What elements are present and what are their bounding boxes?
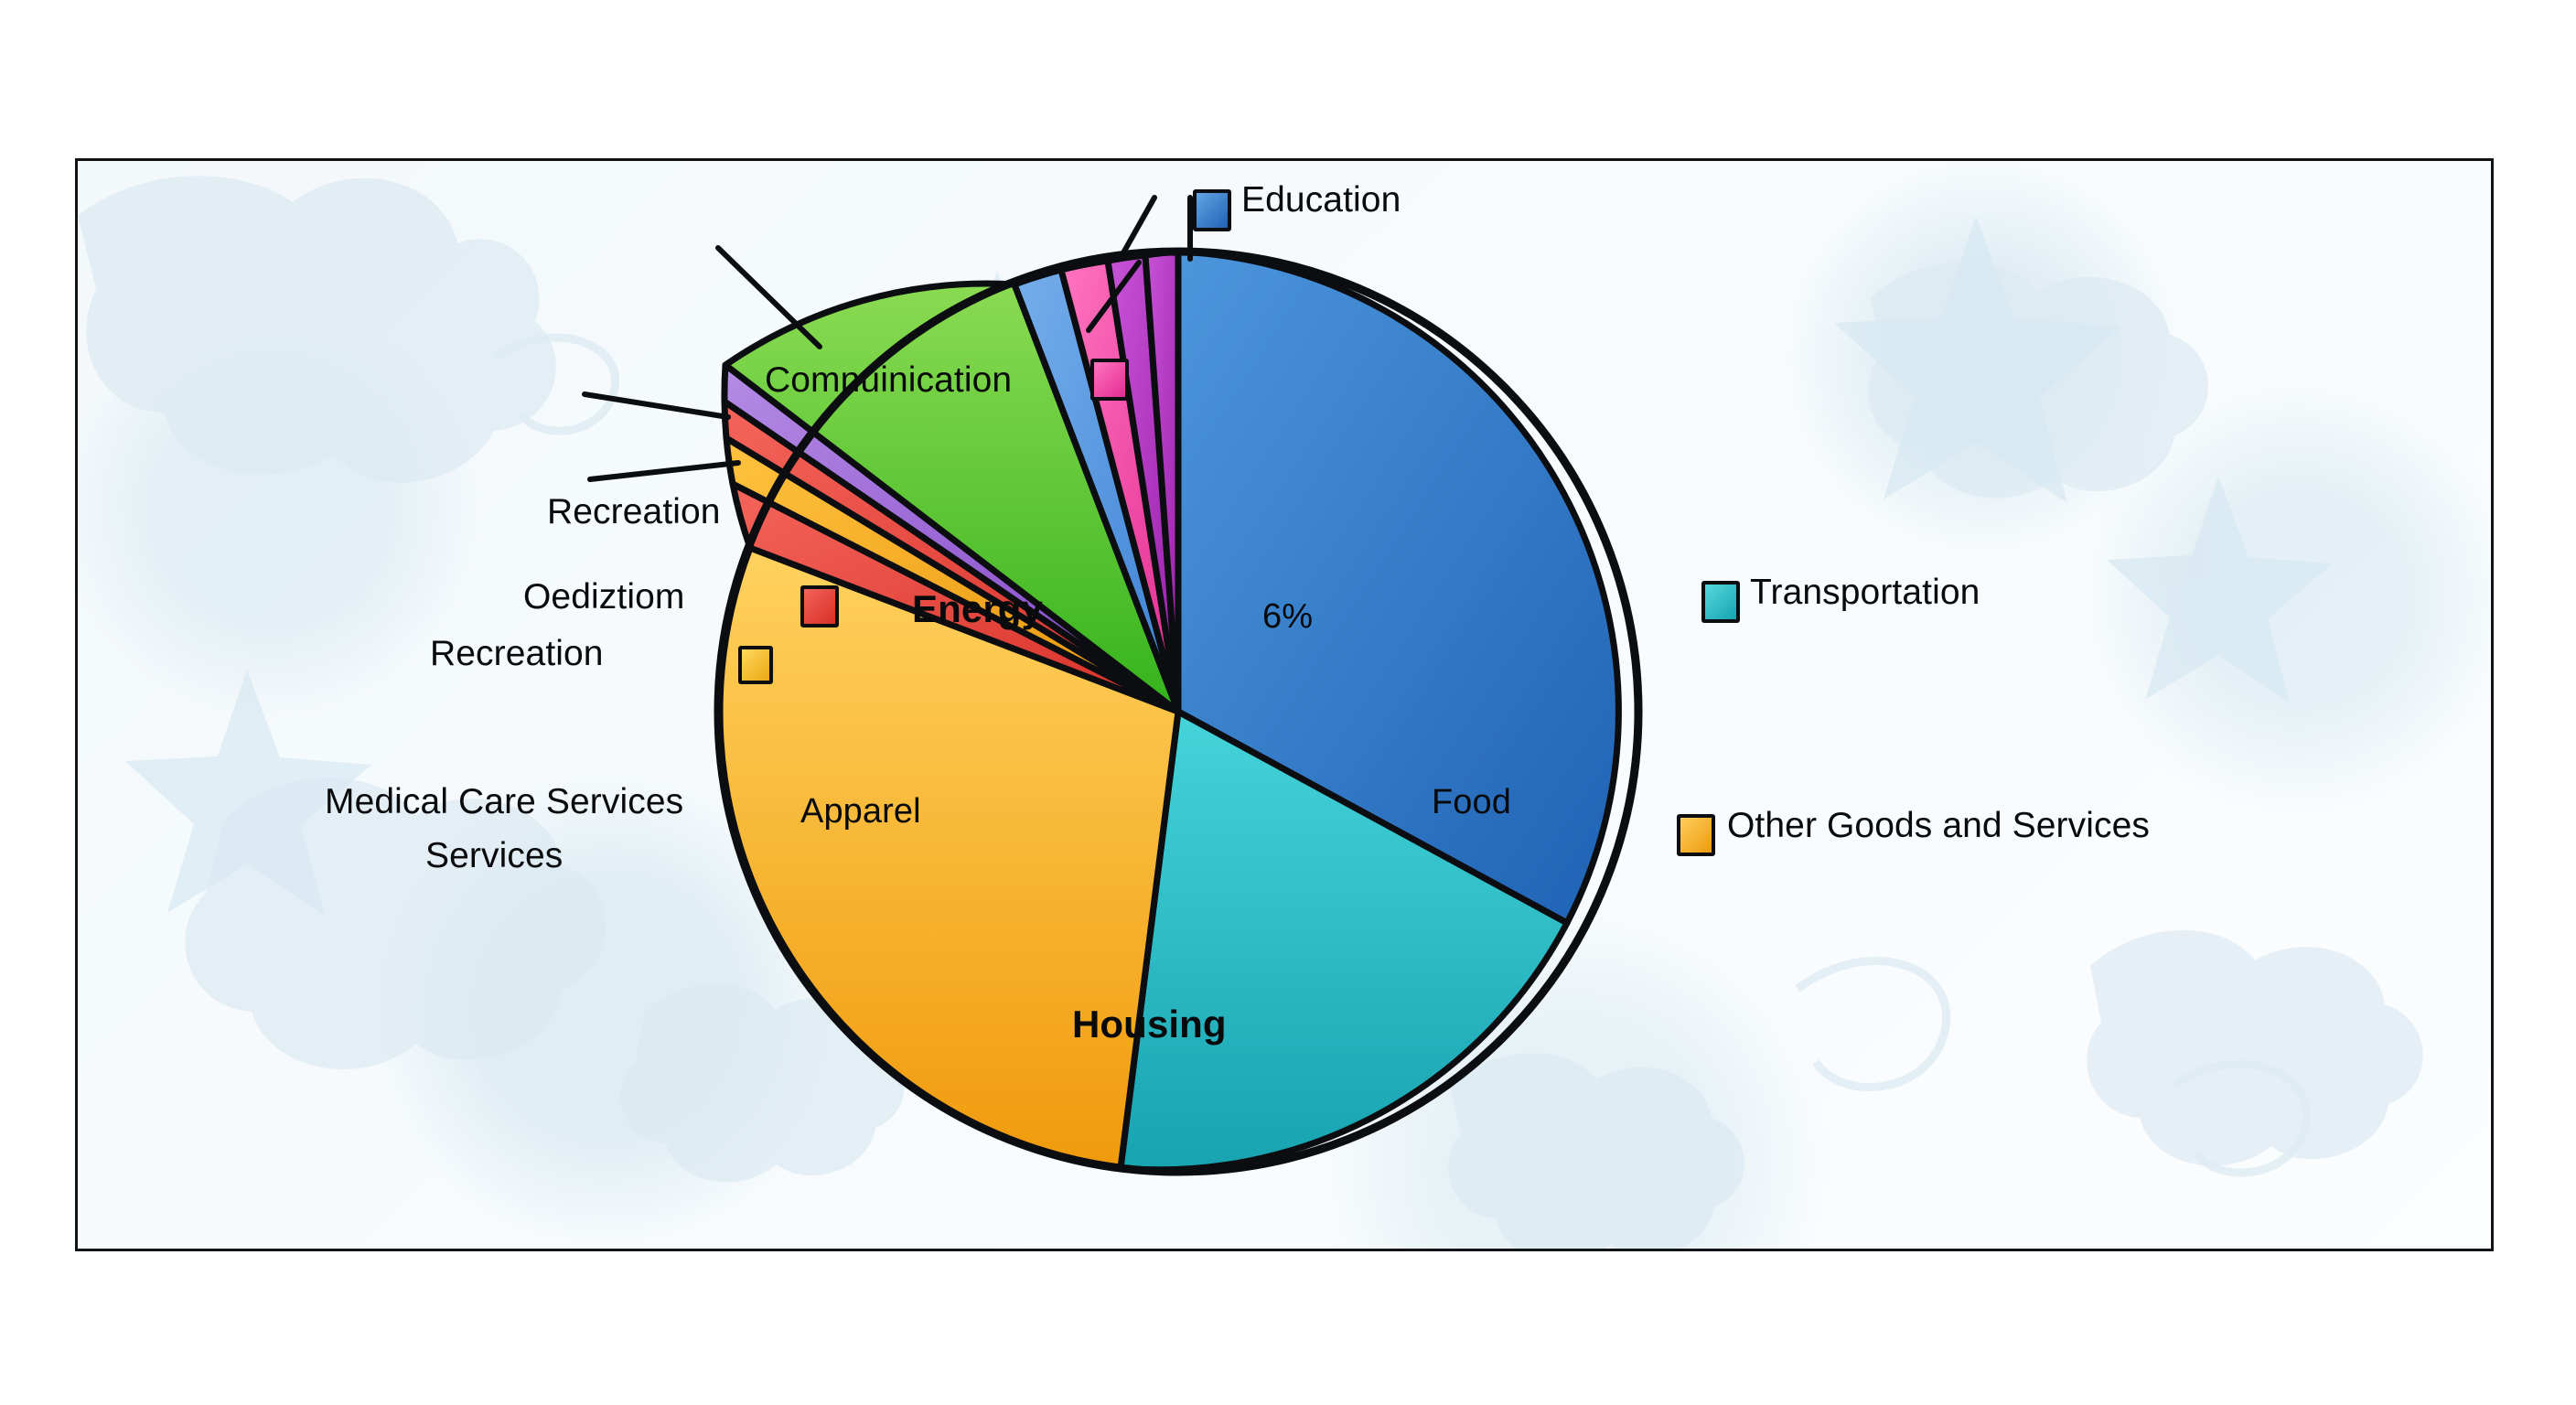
slice-label-food: Food (1432, 783, 1511, 822)
callout-label-medical-care-services-line1: Medical Care Services (325, 782, 683, 822)
legend-swatch-other-goods-services[interactable] (1677, 814, 1715, 856)
legend-swatch-education[interactable] (1193, 189, 1231, 231)
slice-label-energy: Energy (912, 587, 1043, 631)
chart-screenshot: 6% Food Housing Apparel Energy Comnuinic… (0, 0, 2576, 1405)
callout-label-medical-care-services-line2: Services (425, 836, 563, 876)
callout-label-recreation-2: Recreation (430, 634, 604, 674)
slice-label-education-pct: 6% (1262, 597, 1313, 637)
callout-swatch-oediztiom[interactable] (800, 585, 839, 627)
callout-swatch-recreation-2[interactable] (738, 646, 773, 684)
slice-label-apparel: Apparel (800, 792, 921, 831)
callout-label-oediztiom: Oediztiom (523, 577, 684, 617)
legend-label-other-goods-services: Other Goods and Services (1727, 806, 2150, 846)
pie-chart (78, 161, 2491, 1249)
slice-label-housing: Housing (1072, 1003, 1227, 1046)
legend-swatch-transportation[interactable] (1701, 581, 1740, 623)
legend-label-transportation: Transportation (1750, 573, 1980, 613)
callout-label-comnuinication: Comnuinication (765, 360, 1012, 401)
legend-label-education: Education (1241, 180, 1401, 220)
callout-swatch-comnuinication[interactable] (1090, 359, 1129, 401)
chart-frame: 6% Food Housing Apparel Energy Comnuinic… (75, 158, 2494, 1251)
callout-label-recreation-top: Recreation (547, 492, 721, 532)
